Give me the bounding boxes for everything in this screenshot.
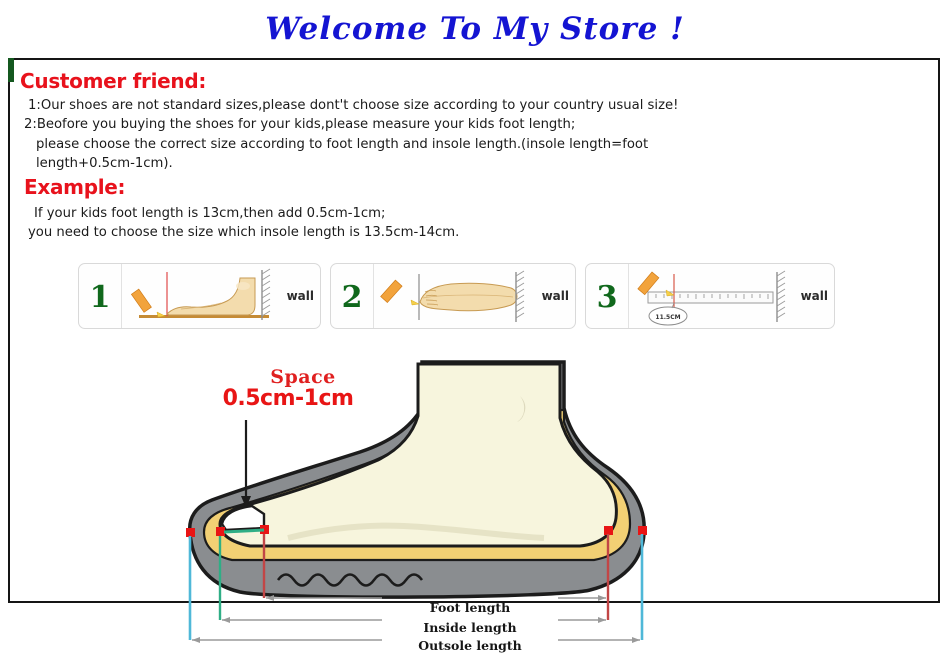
step-3-number: 3 <box>586 264 628 329</box>
customer-line-1: 1:Our shoes are not standard sizes,pleas… <box>28 96 678 116</box>
space-connector <box>224 530 264 532</box>
page-title: Welcome To My Store ! <box>0 10 950 48</box>
content-box: Customer friend: 1:Our shoes are not sta… <box>8 58 940 603</box>
step-panel-1: 1 <box>78 263 321 329</box>
inside-length-label: Inside length <box>390 620 550 635</box>
step-1-number: 1 <box>79 264 121 329</box>
example-heading: Example: <box>24 175 125 199</box>
customer-line-2: 2:Beofore you buying the shoes for your … <box>24 115 575 135</box>
space-title-label: Space <box>193 366 413 388</box>
example-line-2: you need to choose the size which insole… <box>28 223 459 243</box>
step-panel-2: 2 <box>330 263 576 329</box>
step-1-number-cell: 1 <box>79 264 122 328</box>
step-2-number: 2 <box>331 264 373 329</box>
step-1-illustration: wall <box>121 264 320 328</box>
customer-line-3: please choose the correct size according… <box>36 135 648 155</box>
foot-length-label: Foot length <box>390 600 550 615</box>
step-2-wall-label: wall <box>542 289 569 303</box>
step-panel-3: 3 <box>585 263 835 329</box>
step-1-wall-label: wall <box>287 289 314 303</box>
ruler-measure-icon: 11.5CM <box>628 264 828 329</box>
step-3-measure-text: 11.5CM <box>655 314 680 321</box>
step-3-illustration: 11.5CM wall <box>628 264 834 328</box>
step-3-number-cell: 3 <box>586 264 629 328</box>
customer-friend-heading: Customer friend: <box>20 69 206 93</box>
measure-steps: 1 <box>78 263 838 331</box>
step-2-illustration: wall <box>373 264 575 328</box>
step-2-number-cell: 2 <box>331 264 374 328</box>
outsole-length-label: Outsole length <box>390 638 550 653</box>
space-value-label: 0.5cm-1cm <box>178 386 398 411</box>
example-line-1: If your kids foot length is 13cm,then ad… <box>34 204 385 224</box>
customer-line-4: length+0.5cm-1cm). <box>36 154 173 174</box>
store-size-guide-page: Welcome To My Store ! Customer friend: 1… <box>0 0 950 623</box>
shoe-cross-section-diagram: Space 0.5cm-1cm Foot length Inside lengt… <box>160 348 800 598</box>
step-3-wall-label: wall <box>801 289 828 303</box>
